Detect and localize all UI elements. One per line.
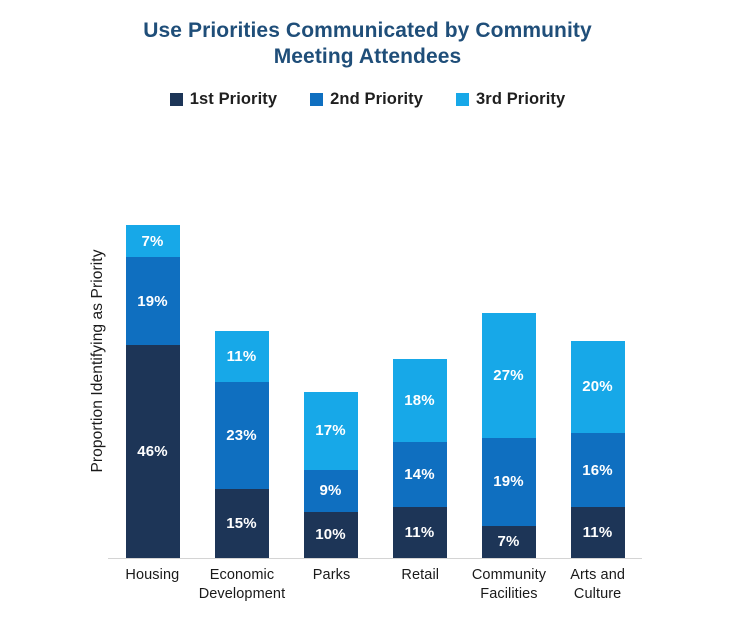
stacked-bar-chart: Use Priorities Communicated by Community… (0, 0, 735, 626)
bar-segment-value-label: 19% (137, 294, 168, 309)
bar-segment-value-label: 15% (226, 516, 257, 531)
bar-segment-value-label: 46% (137, 444, 168, 459)
bar-stack: 7%19%46% (126, 225, 180, 558)
bar-segment-value-label: 14% (404, 467, 435, 482)
bar-segment[interactable]: 16% (571, 433, 625, 507)
bar-stack: 18%14%11% (393, 359, 447, 558)
bar-segment-value-label: 17% (315, 423, 346, 438)
bar-segment-value-label: 10% (315, 527, 346, 542)
bar-segment-value-label: 20% (582, 379, 613, 394)
x-axis-line (108, 558, 642, 559)
category-label-line-1: Arts and (555, 566, 640, 585)
bar-segment[interactable]: 14% (393, 442, 447, 507)
bar-segment[interactable]: 11% (571, 507, 625, 558)
x-axis-category-label: Arts andCulture (553, 566, 642, 604)
bar-column: 20%16%11% (553, 188, 642, 558)
bar-segment[interactable]: 20% (571, 341, 625, 434)
bar-segment[interactable]: 27% (482, 313, 536, 438)
bar-segment[interactable]: 9% (304, 470, 358, 512)
bar-stack: 20%16%11% (571, 341, 625, 558)
bar-segment[interactable]: 10% (304, 512, 358, 558)
bar-segment[interactable]: 17% (304, 392, 358, 471)
bar-segment-value-label: 7% (497, 534, 519, 549)
bar-column: 27%19%7% (464, 188, 553, 558)
bar-segment-value-label: 27% (493, 368, 524, 383)
x-axis-category-label: Housing (108, 566, 197, 604)
bar-segment[interactable]: 23% (215, 382, 269, 488)
bar-column: 17%9%10% (286, 188, 375, 558)
bar-segment[interactable]: 46% (126, 345, 180, 558)
bar-segment[interactable]: 19% (482, 438, 536, 526)
bars-container: 7%19%46%11%23%15%17%9%10%18%14%11%27%19%… (108, 188, 642, 558)
bar-column: 11%23%15% (197, 188, 286, 558)
bar-column: 7%19%46% (108, 188, 197, 558)
category-label-line-2: Facilities (467, 585, 552, 604)
plot-area: Proportion Identifying as Priority 7%19%… (0, 0, 735, 626)
x-axis-category-label: Parks (287, 566, 376, 604)
bar-segment[interactable]: 11% (393, 507, 447, 558)
bar-segment[interactable]: 15% (215, 489, 269, 558)
x-axis-category-label: EconomicDevelopment (197, 566, 288, 604)
bar-segment-value-label: 18% (404, 393, 435, 408)
category-label-line-2: Culture (555, 585, 640, 604)
bar-segment-value-label: 11% (227, 349, 257, 364)
bar-segment-value-label: 11% (405, 525, 435, 540)
bar-segment-value-label: 11% (583, 525, 613, 540)
category-label-line-1: Community (467, 566, 552, 585)
bar-stack: 11%23%15% (215, 331, 269, 558)
x-axis-category-label: CommunityFacilities (465, 566, 554, 604)
bar-column: 18%14%11% (375, 188, 464, 558)
bar-segment-value-label: 16% (582, 463, 613, 478)
bar-segment-value-label: 19% (493, 474, 524, 489)
bar-segment-value-label: 7% (141, 234, 163, 249)
bar-stack: 27%19%7% (482, 313, 536, 558)
category-label-line-1: Housing (110, 566, 195, 585)
category-label-line-2: Development (199, 585, 286, 604)
bar-segment-value-label: 23% (226, 428, 257, 443)
bar-segment[interactable]: 7% (482, 526, 536, 558)
bar-segment[interactable]: 7% (126, 225, 180, 257)
y-axis-label: Proportion Identifying as Priority (89, 211, 107, 511)
category-label-line-1: Economic (199, 566, 286, 585)
category-label-line-1: Parks (289, 566, 374, 585)
bar-segment[interactable]: 11% (215, 331, 269, 382)
x-axis-category-labels: HousingEconomicDevelopmentParksRetailCom… (108, 566, 642, 604)
bar-segment[interactable]: 19% (126, 257, 180, 345)
bar-segment-value-label: 9% (319, 483, 341, 498)
bar-segment[interactable]: 18% (393, 359, 447, 442)
bar-stack: 17%9%10% (304, 392, 358, 559)
category-label-line-1: Retail (378, 566, 463, 585)
x-axis-category-label: Retail (376, 566, 465, 604)
